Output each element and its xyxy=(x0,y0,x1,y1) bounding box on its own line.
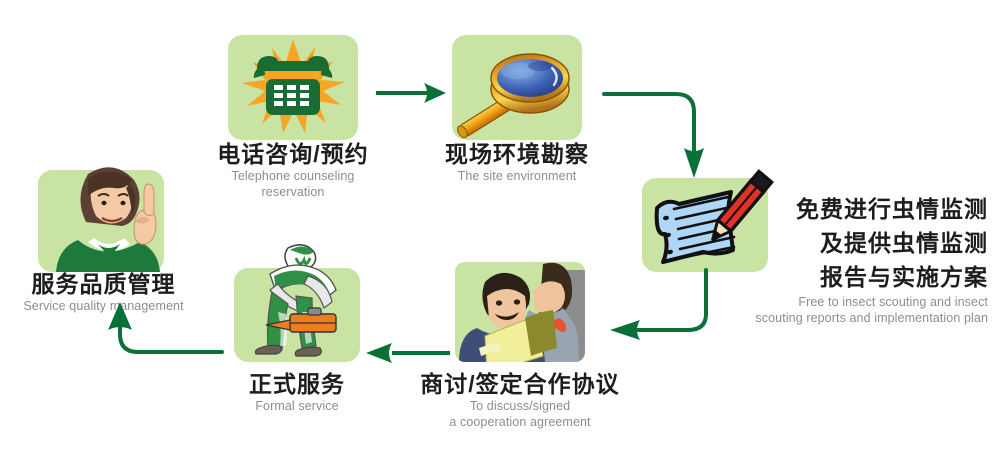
woman-pointing-icon xyxy=(38,170,164,272)
step-title-formal-service: 正式服务 xyxy=(207,372,387,396)
step-title-insect-monitoring-line3: 报告与实施方案 xyxy=(700,258,988,292)
step-title-telephone: 电话咨询/预约 xyxy=(183,142,403,166)
two-people-document-icon xyxy=(455,262,585,362)
magnifier-icon xyxy=(452,35,582,140)
arrow-telephone-to-site xyxy=(376,78,448,108)
step-label-telephone: 电话咨询/预约 Telephone counseling reservation xyxy=(183,142,403,201)
worker-spray-icon xyxy=(234,268,360,362)
step-label-insect-monitoring: 免费进行虫情监测 及提供虫情监测 报告与实施方案 Free to insect … xyxy=(700,190,988,326)
step-card-agreement[interactable] xyxy=(455,262,585,362)
step-title-agreement: 商讨/签定合作协议 xyxy=(400,372,640,396)
arrow-monitoring-to-agreement xyxy=(606,266,714,356)
step-subtitle-site-survey: The site environment xyxy=(407,169,627,185)
arrow-site-to-monitoring xyxy=(600,86,710,182)
step-card-quality-management[interactable] xyxy=(38,170,164,272)
step-title-insect-monitoring-line2: 及提供虫情监测 xyxy=(700,224,988,258)
step-title-insect-monitoring-line1: 免费进行虫情监测 xyxy=(700,190,988,224)
step-label-formal-service: 正式服务 Formal service xyxy=(207,372,387,415)
step-card-site-survey[interactable] xyxy=(452,35,582,140)
step-title-site-survey: 现场环境勘察 xyxy=(407,142,627,166)
step-subtitle-formal-service: Formal service xyxy=(207,399,387,415)
arrow-service-to-quality xyxy=(96,300,224,360)
arrow-agreement-to-service xyxy=(362,338,450,368)
step-card-formal-service[interactable] xyxy=(234,268,360,362)
step-subtitle-insect-monitoring: Free to insect scouting and insect scout… xyxy=(700,295,988,326)
step-card-telephone[interactable] xyxy=(228,35,358,140)
step-title-quality-management: 服务品质管理 xyxy=(0,272,211,296)
step-label-site-survey: 现场环境勘察 The site environment xyxy=(407,142,627,185)
step-subtitle-telephone: Telephone counseling reservation xyxy=(183,169,403,200)
step-subtitle-agreement: To discuss/signed a cooperation agreemen… xyxy=(400,399,640,430)
telephone-sun-icon xyxy=(228,35,358,140)
process-flow-diagram: 电话咨询/预约 Telephone counseling reservation xyxy=(0,0,1000,451)
step-label-agreement: 商讨/签定合作协议 To discuss/signed a cooperatio… xyxy=(400,372,640,431)
